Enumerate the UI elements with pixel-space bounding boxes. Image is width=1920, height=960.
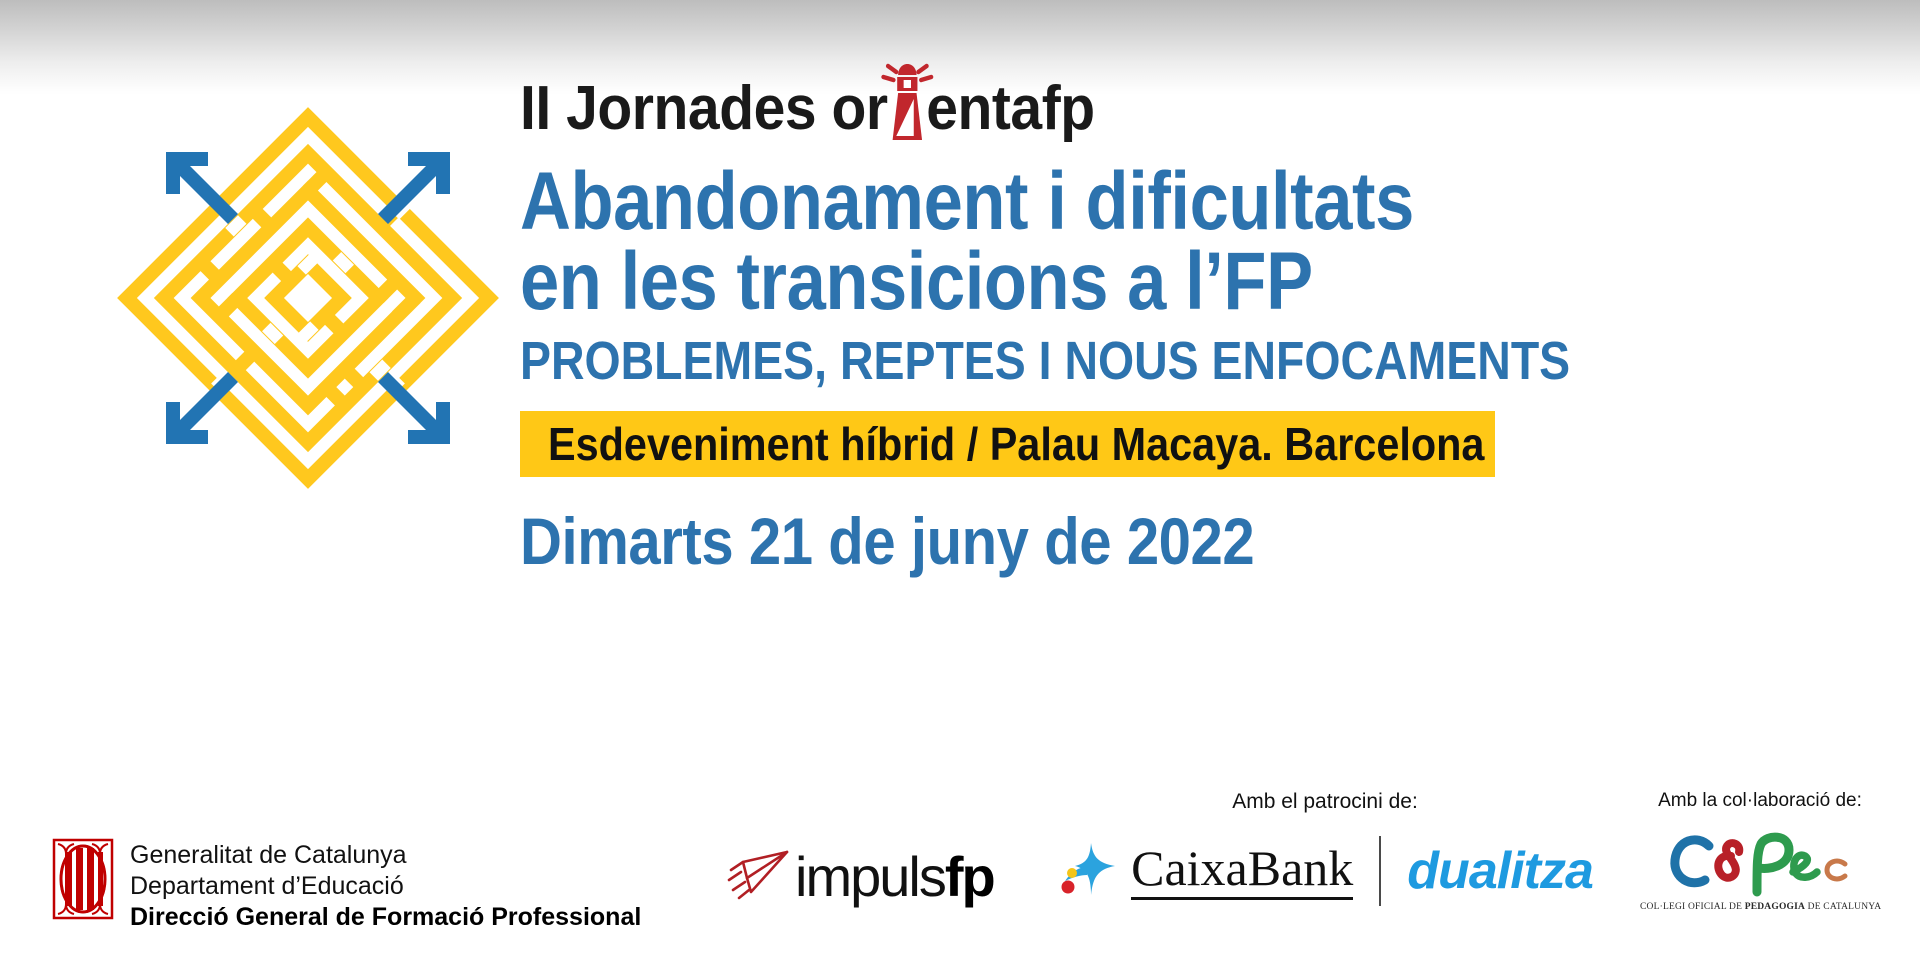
headline-line-2: en les transicions a l’FP [520, 242, 1690, 322]
page-title: Abandonament i dificultats en les transi… [520, 162, 1690, 323]
copec-logo: COL·LEGI OFICIAL DE PEDAGOGIA DE CATALUN… [1640, 826, 1880, 912]
kicker-bold: fp [1042, 78, 1095, 140]
paper-plane-icon [725, 848, 791, 906]
dualitza-logo: dualitza [1407, 845, 1593, 897]
collaborator-label: Amb la col·laboració de: [1640, 790, 1880, 812]
impulsfp-wordmark: impulsfp [795, 849, 994, 905]
impulsfp-light: impuls [795, 845, 945, 908]
event-series-title: II Jornades or enta fp [520, 78, 1771, 140]
page-subtitle: PROBLEMES, REPTES I NOUS ENFOCAMENTS [520, 333, 1690, 390]
copec-tagline-post: DE CATALUNYA [1805, 902, 1881, 912]
impulsfp-bold: fp [945, 845, 994, 908]
kicker-prefix: II Jornades or [520, 78, 888, 140]
caixabank-wordmark: CaixaBank [1131, 843, 1353, 900]
copec-tagline: COL·LEGI OFICIAL DE PEDAGOGIA DE CATALUN… [1640, 902, 1880, 912]
collaborator-block: Amb la col·laboració de: COL·LEGI OFICIA… [1640, 790, 1880, 912]
gencat-line-2: Departament d’Educació [130, 871, 641, 902]
impulsfp-logo: impulsfp [725, 848, 994, 906]
lighthouse-icon [889, 78, 926, 140]
caixabank-logo: CaixaBank [1057, 839, 1353, 903]
gencat-line-3: Direcció General de Formació Professiona… [130, 902, 641, 933]
event-date: Dimarts 21 de juny de 2022 [520, 503, 1717, 579]
gencat-line-1: Generalitat de Catalunya [130, 840, 641, 871]
venue-text: Esdeveniment híbrid / Palau Macaya. Barc… [548, 417, 1484, 471]
headline-line-1: Abandonament i dificultats [520, 156, 1414, 247]
sponsor-block: Amb el patrocini de: CaixaBank dualitza [1055, 790, 1595, 906]
copec-tagline-pre: COL·LEGI OFICIAL DE [1640, 902, 1745, 912]
footer-logos: Generalitat de Catalunya Departament d’E… [0, 790, 1920, 960]
caixabank-star-icon [1057, 839, 1121, 903]
copec-logo-icon [1665, 826, 1855, 900]
venue-banner: Esdeveniment híbrid / Palau Macaya. Barc… [520, 411, 1495, 477]
generalitat-logo: Generalitat de Catalunya Departament d’E… [52, 838, 641, 933]
sponsor-logos-row: CaixaBank dualitza [1055, 836, 1595, 906]
maze-arrows-icon [108, 88, 508, 508]
sponsor-divider [1379, 836, 1381, 906]
poster-content: II Jornades or enta fp [520, 78, 1880, 579]
generalitat-shield-icon [52, 838, 114, 920]
copec-tagline-bold: PEDAGOGIA [1745, 902, 1805, 912]
sponsor-label: Amb el patrocini de: [1055, 790, 1595, 814]
dualitza-wordmark: dualitza [1407, 845, 1593, 897]
kicker-middle: enta [926, 78, 1041, 140]
